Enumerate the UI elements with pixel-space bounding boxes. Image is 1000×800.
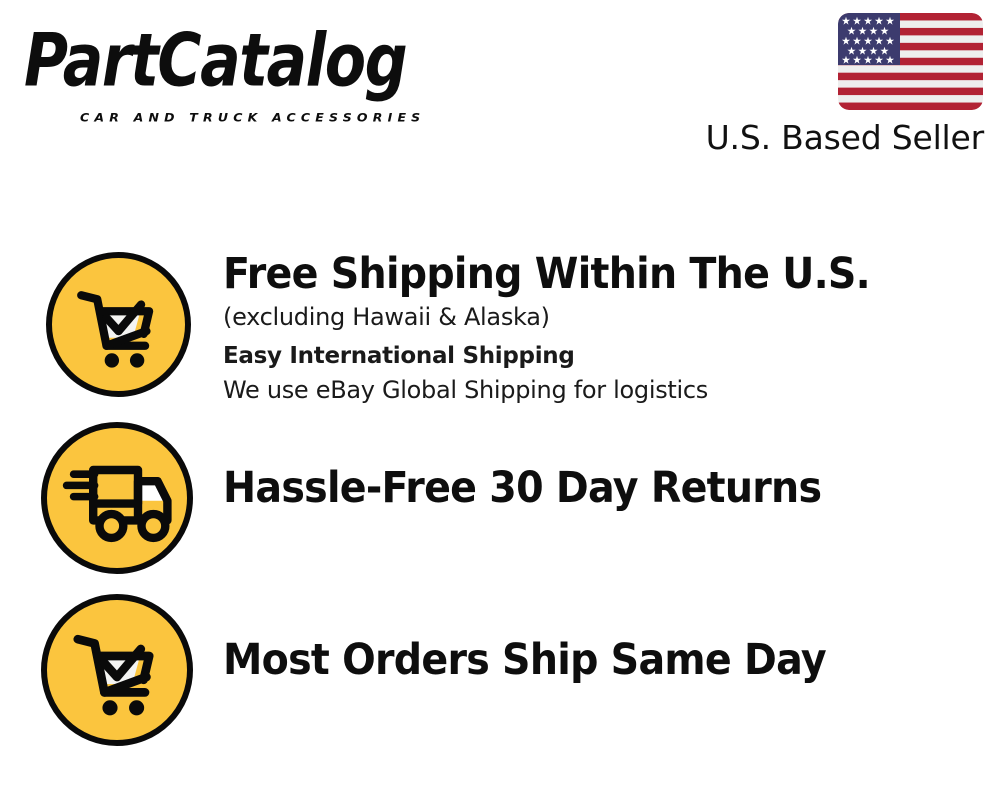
benefit-title: Most Orders Ship Same Day (223, 634, 826, 686)
benefit-subtitle-international: Easy International Shipping (223, 340, 926, 373)
benefit-row: Hassle-Free 30 Day Returns (0, 412, 1000, 580)
benefit-title: Free Shipping Within The U.S. (223, 248, 870, 300)
us-flag-icon (838, 13, 983, 110)
delivery-truck-glyph (47, 428, 187, 568)
cart-check-glyph (52, 258, 185, 391)
brand-tagline: CAR AND TRUCK ACCESSORIES (80, 110, 425, 124)
benefit-text-block: Hassle-Free 30 Day Returns (223, 462, 873, 514)
partcatalog-logo: PartCatalog CAR AND TRUCK ACCESSORIES (24, 22, 494, 117)
us-based-seller-label: U.S. Based Seller (706, 118, 984, 158)
shopping-cart-check-icon (46, 252, 191, 397)
promo-banner: PartCatalog CAR AND TRUCK ACCESSORIES (0, 0, 1000, 800)
brand-wordmark: PartCatalog (24, 22, 480, 100)
benefit-subtitle-exclusions: (excluding Hawaii & Alaska) (223, 301, 926, 334)
delivery-truck-icon (41, 422, 193, 574)
shopping-cart-check-icon (41, 594, 193, 746)
banner-header: PartCatalog CAR AND TRUCK ACCESSORIES (0, 0, 1000, 175)
us-flag-graphic (838, 13, 983, 110)
benefit-row: Free Shipping Within The U.S. (excluding… (0, 234, 1000, 414)
benefit-row: Most Orders Ship Same Day (0, 584, 1000, 752)
benefit-title: Hassle-Free 30 Day Returns (223, 462, 821, 514)
benefit-subtitle-logistics: We use eBay Global Shipping for logistic… (223, 374, 926, 407)
benefit-text-block: Free Shipping Within The U.S. (excluding… (223, 248, 926, 407)
cart-check-glyph (47, 600, 187, 740)
benefit-text-block: Most Orders Ship Same Day (223, 634, 878, 686)
